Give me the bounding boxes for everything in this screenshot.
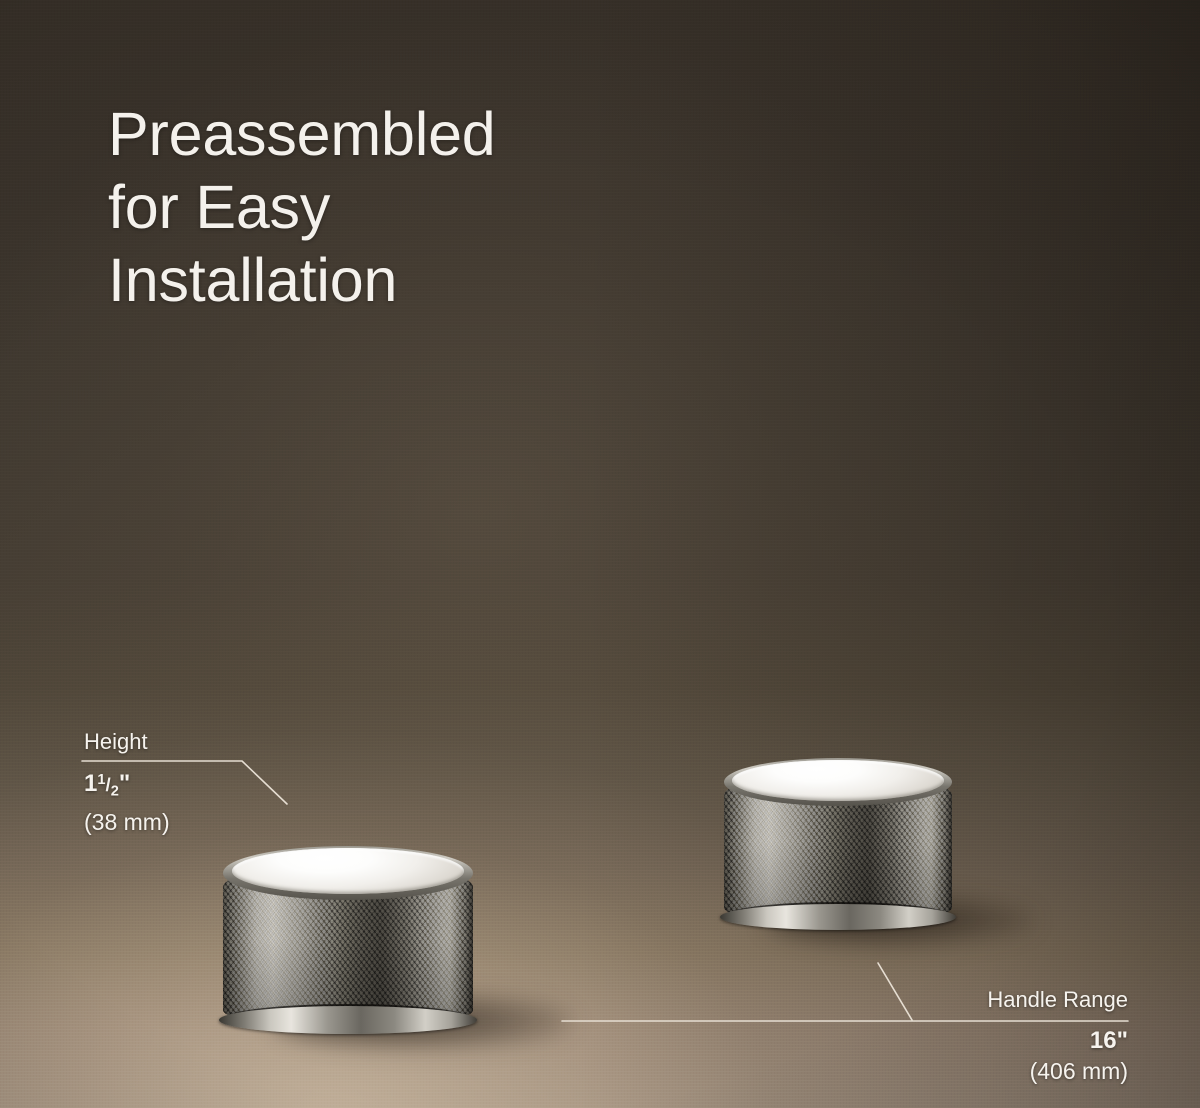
height-value-unit: " <box>119 770 130 797</box>
height-metric: (38 mm) <box>84 807 170 837</box>
headline: Preassembled for Easy Installation <box>108 98 496 317</box>
height-value: 11/2" <box>84 765 170 807</box>
handle-range-values: 16" (406 mm) <box>828 1026 1128 1086</box>
handle-range-callout: Handle Range <box>828 986 1128 1013</box>
handle-range-label: Handle Range <box>828 986 1128 1013</box>
height-callout: Height <box>84 728 148 755</box>
handle-range-metric: (406 mm) <box>828 1056 1128 1086</box>
product-hero-scene: Preassembled for Easy Installation <box>0 0 1200 1108</box>
handle-range-value: 16" <box>828 1026 1128 1056</box>
height-value-whole: 1 <box>84 770 97 797</box>
knob-base-ring <box>219 1006 477 1034</box>
knurled-knob-left <box>215 840 485 1040</box>
knob-top-face <box>732 760 944 801</box>
knob-base-ring <box>720 904 956 930</box>
knob-top-face <box>232 848 464 894</box>
height-label: Height <box>84 728 148 755</box>
knurled-knob-right <box>718 752 963 937</box>
knob-body <box>718 752 963 937</box>
height-value-fraction: 1/2 <box>97 774 118 795</box>
height-fraction-numerator: 1 <box>97 772 105 788</box>
height-values: 11/2" (38 mm) <box>84 765 170 837</box>
height-fraction-denominator: 2 <box>111 784 119 800</box>
knob-body <box>215 840 485 1040</box>
